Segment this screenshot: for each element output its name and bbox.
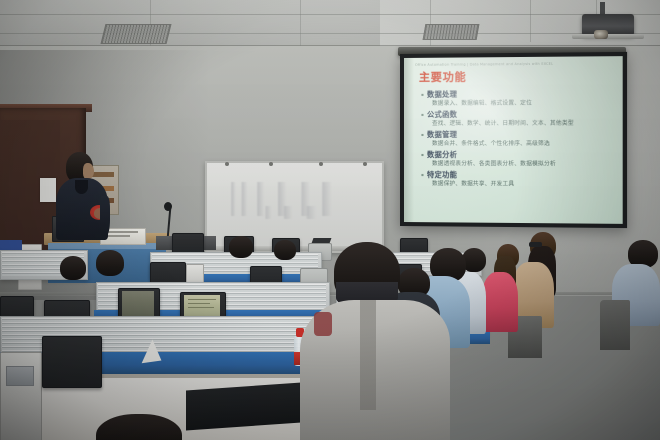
monitor-display [122,291,154,316]
slide-section: 数据分析 数据透视表分析、各类图表分析、数据模拟分析 [421,150,615,170]
whiteboard-erased-writing [262,206,332,219]
ceiling-vent [101,24,172,44]
slide-section-sub: 数据录入、数据编辑、格式设置、定位 [432,99,615,109]
slide-section: 特定功能 数据保护、数据共享、开发工具 [421,170,615,190]
slide-section: 数据处理 数据录入、数据编辑、格式设置、定位 [421,89,615,109]
presenter-face [83,163,94,179]
slide-section-heading: 数据分析 [421,150,615,160]
projection-screen: Office Automation Training | Data Manage… [404,56,623,224]
attendee-head [274,240,296,260]
slide-section-sub: 查找、逻辑、数学、统计、日期时间、文本、其他类型 [432,120,615,129]
paper-text-line [104,231,138,233]
monitor [42,336,102,388]
slide-section-heading: 公式函数 [421,109,615,120]
slide-section-sub: 数据合并、条件格式、个性化排序、高级筛选 [432,140,615,149]
blazer-seam [360,300,376,410]
projected-slide: Office Automation Training | Data Manage… [404,56,623,224]
lanyard [314,312,332,336]
presenter-arm [100,196,110,236]
slide-header-text: Office Automation Training | Data Manage… [415,61,615,68]
attendee-head [96,250,124,276]
slide-section-sub: 数据保护、数据共享、开发工具 [432,180,615,190]
tower-panel [6,366,34,386]
presenter-collar [75,180,88,194]
projector-icon [582,14,634,36]
attendee-pink-torso [482,272,518,332]
slide-section-sub: 数据透视表分析、各类图表分析、数据模拟分析 [432,160,615,170]
ceiling-seam [0,14,660,15]
ceiling-grid-line [596,0,597,14]
monitor-text-line [188,307,214,308]
ceiling-seam [0,33,660,34]
ceiling-grid-line [530,0,531,42]
attendee-head [60,256,86,280]
slide-section: 公式函数 查找、逻辑、数学、统计、日期时间、文本、其他类型 [421,109,615,129]
paper-notice [40,178,56,202]
projector-mount-plate [572,34,644,39]
monitor-text-line [188,299,216,300]
slide-title: 主要功能 [419,69,615,84]
chair-back [600,300,630,350]
paper-wedge [139,339,162,364]
ceiling-grid-line [300,0,301,46]
screen-edge-shading [404,58,414,222]
attendee-head [229,236,253,258]
ceiling-vent [423,24,480,40]
glasses-icon [529,242,542,247]
projector-lens-icon [594,30,608,39]
slide-section: 数据管理 数据合并、条件格式、个性化排序、高级筛选 [421,130,615,149]
microphone-icon [164,202,172,211]
slide-section-heading: 数据管理 [421,130,615,140]
classroom-photo: Office Automation Training | Data Manage… [0,0,660,440]
monitor-text-line [188,303,210,304]
